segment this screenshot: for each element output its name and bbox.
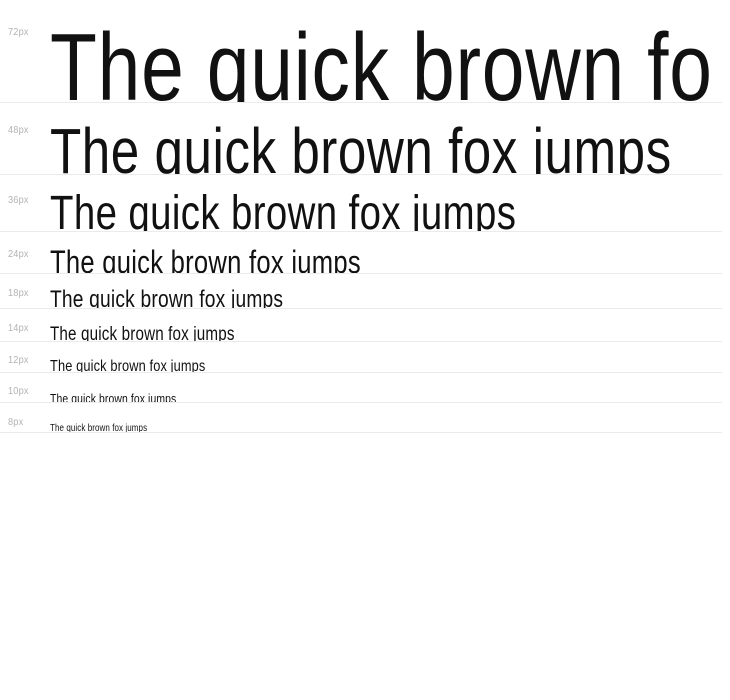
specimen-row-10px: 10px The quick brown fox jumps xyxy=(0,373,722,403)
specimen-row-8px: 8px The quick brown fox jumps xyxy=(0,403,722,433)
size-label-48px: 48px xyxy=(8,126,29,136)
sample-text-48px: The quick brown fox jumps xyxy=(50,119,672,175)
specimen-row-12px: 12px The quick brown fox jumps xyxy=(0,342,722,373)
size-label-8px: 8px xyxy=(8,418,23,428)
size-label-14px: 14px xyxy=(8,324,29,334)
size-label-12px: 12px xyxy=(8,356,29,366)
size-label-36px: 36px xyxy=(8,196,29,206)
specimen-row-24px: 24px The quick brown fox jumps xyxy=(0,232,722,274)
font-size-specimen-list: 72px The quick brown fo 48px The quick b… xyxy=(0,0,730,433)
specimen-row-18px: 18px The quick brown fox jumps xyxy=(0,274,722,309)
empty-canvas-area xyxy=(0,433,730,696)
size-label-72px: 72px xyxy=(8,28,29,38)
sample-text-12px: The quick brown fox jumps xyxy=(50,359,205,373)
sample-text-72px: The quick brown fo xyxy=(50,20,713,103)
specimen-row-72px: 72px The quick brown fo xyxy=(0,0,722,103)
size-label-24px: 24px xyxy=(8,250,29,260)
sample-text-8px: The quick brown fox jumps xyxy=(50,424,147,433)
specimen-row-48px: 48px The quick brown fox jumps xyxy=(0,103,722,175)
specimen-row-36px: 36px The quick brown fox jumps xyxy=(0,175,722,232)
specimen-row-14px: 14px The quick brown fox jumps xyxy=(0,309,722,342)
sample-text-10px: The quick brown fox jumps xyxy=(50,392,176,403)
size-label-18px: 18px xyxy=(8,289,29,299)
sample-text-36px: The quick brown fox jumps xyxy=(50,190,516,232)
sample-text-14px: The quick brown fox jumps xyxy=(50,325,235,342)
sample-text-24px: The quick brown fox jumps xyxy=(50,246,361,274)
size-label-10px: 10px xyxy=(8,387,29,397)
sample-text-18px: The quick brown fox jumps xyxy=(50,288,283,309)
